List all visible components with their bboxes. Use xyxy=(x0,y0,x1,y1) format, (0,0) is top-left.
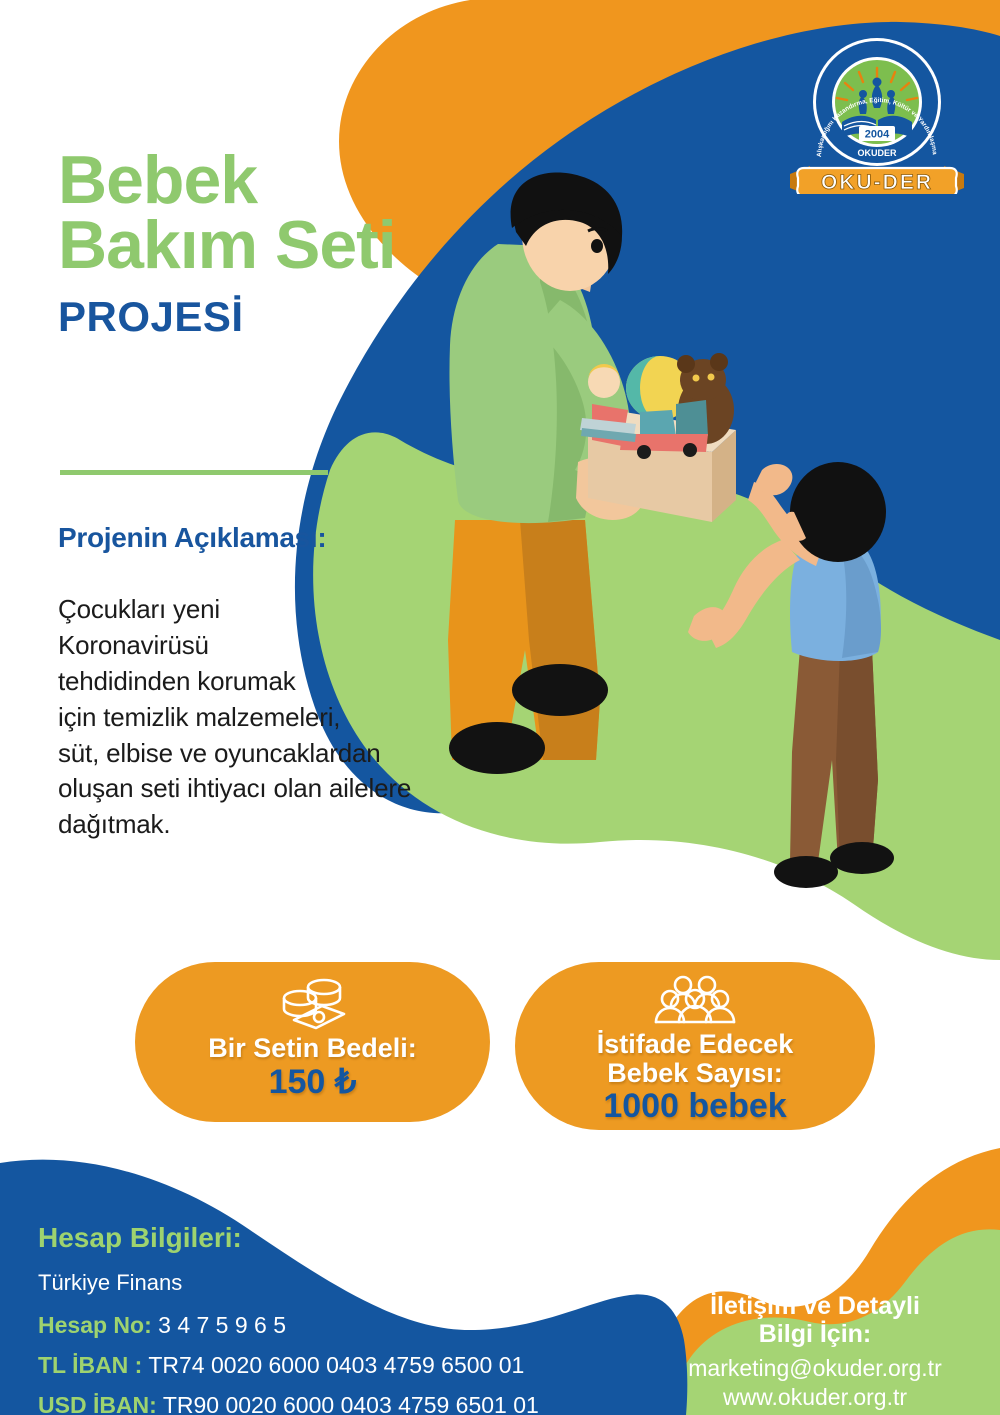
okuder-logo-svg: 2004 Okuma Alışkanlığını Kazandırma, Eği… xyxy=(786,26,968,194)
truck-wheel-right xyxy=(683,443,697,457)
bank-row-usd-iban-value: TR90 0020 6000 0403 4759 6501 01 xyxy=(163,1392,539,1415)
title-divider xyxy=(60,470,328,475)
description-heading: Projenin Açıklaması: xyxy=(58,522,528,554)
bank-row-tl-iban-key: TL İBAN : xyxy=(38,1352,142,1378)
bank-info-block: Hesap Bilgileri: Türkiye Finans Hesap No… xyxy=(38,1222,638,1415)
badge-baby-count-value: 1000 bebek xyxy=(603,1088,786,1125)
child-shoe-front xyxy=(774,856,838,888)
child-hand-right xyxy=(756,464,792,495)
badge-baby-count-label: İstifade Edecek Bebek Sayısı: xyxy=(597,1030,794,1087)
page-subtitle: PROJESİ xyxy=(58,293,458,341)
man-trousers-shade xyxy=(520,520,600,760)
people-group-icon-svg xyxy=(650,972,740,1028)
badge-set-cost[interactable]: Bir Setin Bedeli: 150 ₺ xyxy=(135,962,490,1122)
people-group-icon xyxy=(650,972,740,1028)
bank-row-tl-iban-value: TR74 0020 6000 0403 4759 6500 01 xyxy=(148,1352,524,1378)
teddy-ear-right xyxy=(710,353,728,371)
bank-info-title: Hesap Bilgileri: xyxy=(38,1222,638,1254)
child-head xyxy=(790,462,886,562)
bank-row-account-no: Hesap No: 3 4 7 5 9 6 5 xyxy=(38,1312,638,1339)
teddy-eye-left xyxy=(693,375,700,382)
title-block: Bebek Bakım Seti PROJESİ xyxy=(58,148,458,341)
badge-set-cost-value: 150 ₺ xyxy=(269,1064,357,1101)
badge-set-cost-label: Bir Setin Bedeli: xyxy=(208,1034,417,1063)
truck-wheel-left xyxy=(637,445,651,459)
logo-abbrev: OKUDER xyxy=(857,148,897,158)
bank-name: Türkiye Finans xyxy=(38,1270,638,1296)
logo-ribbon-text: OKU-DER xyxy=(821,171,933,194)
badge-baby-count[interactable]: İstifade Edecek Bebek Sayısı: 1000 bebek xyxy=(515,962,875,1130)
logo-figure-center-head xyxy=(873,78,882,87)
money-stack-icon-svg xyxy=(274,976,352,1032)
description-block: Projenin Açıklaması: Çocukları yeni Koro… xyxy=(58,522,528,843)
truck-body xyxy=(676,400,708,436)
donation-box xyxy=(580,353,736,522)
contact-title: İletişim ve Detayli Bilgi İçin: xyxy=(655,1292,975,1348)
bank-row-account-no-value: 3 4 7 5 9 6 5 xyxy=(158,1312,286,1338)
page-title: Bebek Bakım Seti xyxy=(58,148,458,279)
logo-figure-left-head xyxy=(859,90,867,98)
logo-figure-right-head xyxy=(887,90,895,98)
money-stack-icon xyxy=(274,976,352,1032)
contact-website[interactable]: www.okuder.org.tr xyxy=(655,1383,975,1412)
child-shoe-back xyxy=(830,842,894,874)
contact-email[interactable]: marketing@okuder.org.tr xyxy=(655,1354,975,1383)
logo-year: 2004 xyxy=(865,129,890,141)
teddy-ear-left xyxy=(677,355,695,373)
truck-cab xyxy=(640,410,676,438)
bank-row-tl-iban: TL İBAN : TR74 0020 6000 0403 4759 6500 … xyxy=(38,1352,638,1379)
child-figure xyxy=(688,462,894,888)
description-body: Çocukları yeni Koronavirüsü tehdidinden … xyxy=(58,592,528,843)
contact-block: İletişim ve Detayli Bilgi İçin: marketin… xyxy=(655,1292,975,1413)
bank-row-usd-iban-key: USD İBAN: xyxy=(38,1392,157,1415)
bank-row-account-no-key: Hesap No: xyxy=(38,1312,152,1338)
okuder-logo: 2004 Okuma Alışkanlığını Kazandırma, Eği… xyxy=(786,26,968,194)
bank-row-usd-iban: USD İBAN: TR90 0020 6000 0403 4759 6501 … xyxy=(38,1392,638,1415)
teddy-eye-right xyxy=(708,374,715,381)
man-eye xyxy=(591,239,603,253)
child-trousers-shade xyxy=(836,648,878,862)
poster-root: 2004 Okuma Alışkanlığını Kazandırma, Eği… xyxy=(0,0,1000,1415)
